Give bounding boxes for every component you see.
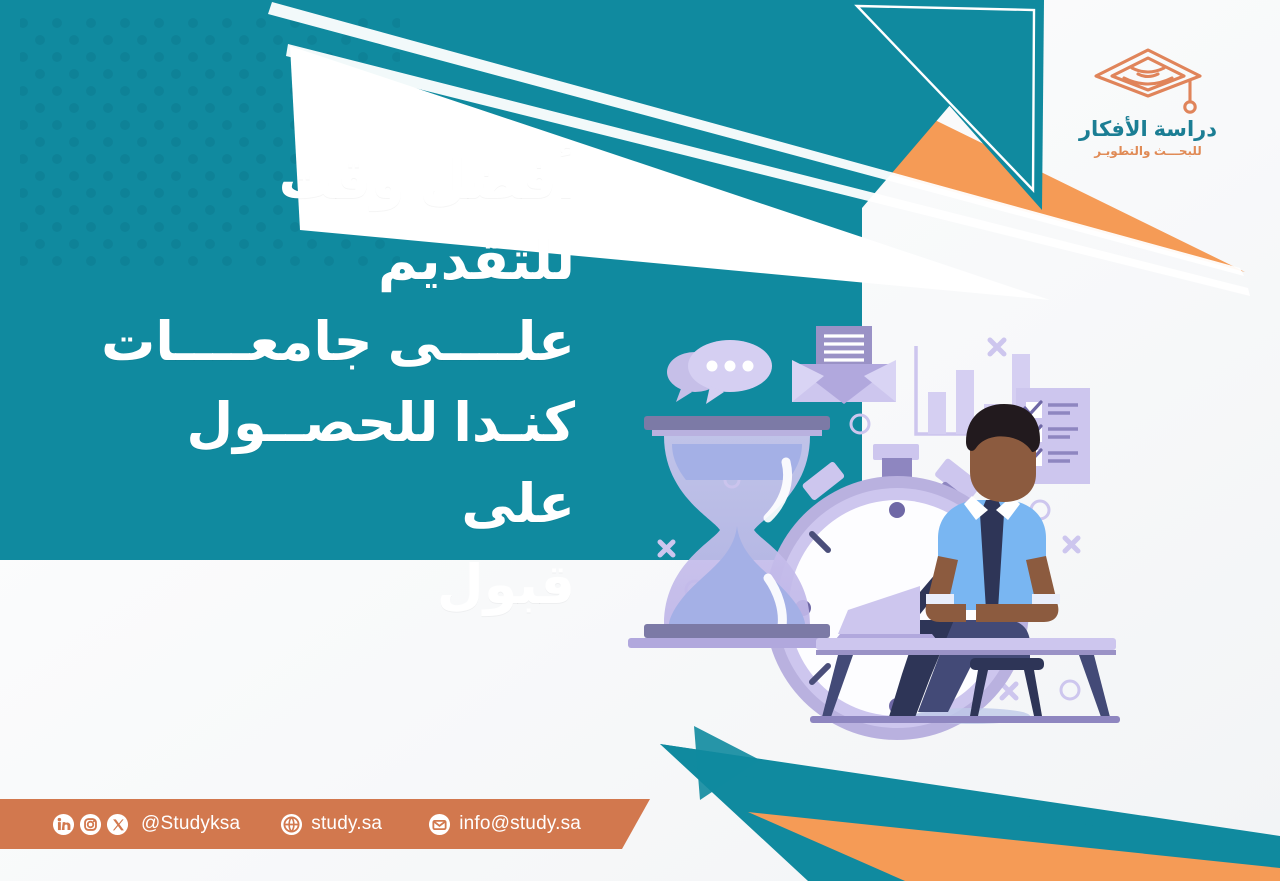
page-title: أفضل وقت للتقديم علــــى جامعــــات كنـد… [75, 140, 575, 626]
banner-canvas: أفضل وقت للتقديم علــــى جامعــــات كنـد… [0, 0, 1280, 881]
speech-bubbles-icon [667, 340, 772, 404]
website-group[interactable]: study.sa [280, 813, 382, 836]
social-handle-group[interactable]: @Studyksa [52, 813, 240, 836]
graduation-cap-icon [1088, 44, 1208, 116]
social-handle-label: @Studyksa [141, 813, 240, 835]
linkedin-icon[interactable] [52, 813, 75, 836]
globe-icon[interactable] [280, 813, 303, 836]
website-label: study.sa [311, 813, 382, 835]
email-group[interactable]: info@study.sa [428, 813, 581, 836]
instagram-icon[interactable] [79, 813, 102, 836]
brand-logo[interactable]: دراسة الأفكار للبحـــث والتطويـر [1073, 44, 1223, 174]
brand-name: دراسة الأفكار [1073, 118, 1223, 141]
time-management-illustration [620, 320, 1160, 750]
contact-footer: @Studyksa study.sa [0, 799, 650, 849]
x-twitter-icon[interactable] [106, 813, 129, 836]
brand-tagline: للبحـــث والتطويـر [1073, 144, 1223, 158]
email-label: info@study.sa [459, 813, 581, 835]
envelope-icon [792, 326, 896, 404]
envelope-icon[interactable] [428, 813, 451, 836]
